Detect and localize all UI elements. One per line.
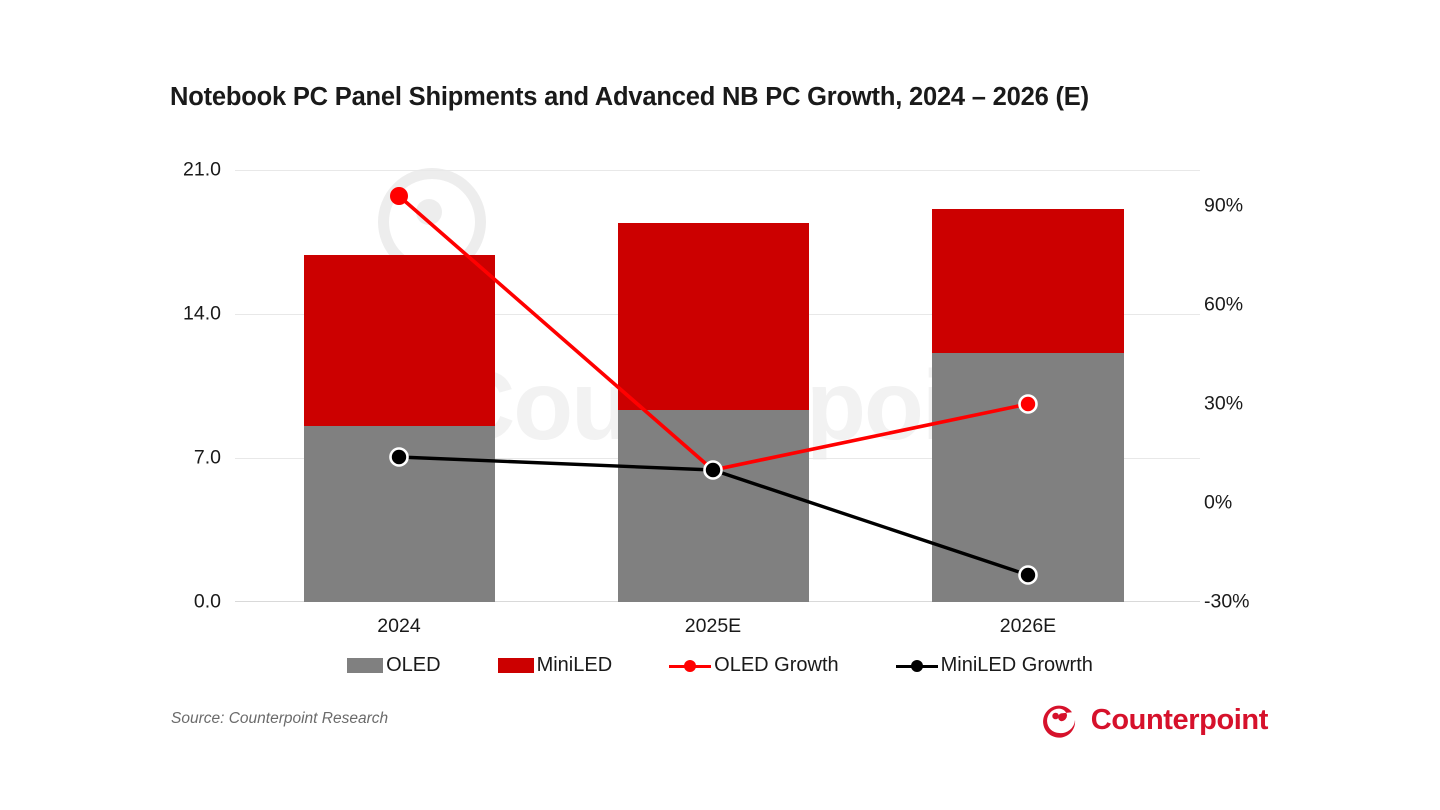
plot-area: [235, 170, 1200, 602]
chart-page: Notebook PC Panel Shipments and Advanced…: [0, 0, 1440, 810]
ytick-right-1: 60%: [1204, 294, 1243, 317]
legend-swatch-miniled-icon: [498, 658, 534, 673]
bar-miniled-2026e[interactable]: [932, 209, 1124, 353]
legend-swatch-oled-icon: [347, 658, 383, 673]
legend-item-miniled-growth[interactable]: MiniLED Growrth: [896, 654, 1093, 677]
bar-miniled-2024[interactable]: [304, 255, 495, 426]
legend-item-oled[interactable]: OLED: [347, 654, 440, 677]
gridline-21: [235, 170, 1200, 171]
legend-label-miniled: MiniLED: [537, 654, 613, 677]
brand-logo: Counterpoint: [1039, 700, 1268, 740]
ytick-right-2: 30%: [1204, 393, 1243, 416]
ytick-right-4: -30%: [1204, 591, 1250, 614]
bar-oled-2025e[interactable]: [618, 410, 809, 602]
legend-label-oled-growth: OLED Growth: [714, 654, 838, 677]
ytick-left-2: 7.0: [194, 447, 221, 470]
legend-line-oled-growth-icon: [669, 659, 711, 673]
counterpoint-logo-icon: [1039, 700, 1079, 740]
ytick-right-3: 0%: [1204, 492, 1232, 515]
legend: OLED MiniLED OLED Growth MiniLED Growrth: [0, 654, 1440, 677]
legend-label-miniled-growth: MiniLED Growrth: [941, 654, 1093, 677]
brand-name: Counterpoint: [1091, 704, 1268, 737]
bar-miniled-2025e[interactable]: [618, 223, 809, 410]
page-title: Notebook PC Panel Shipments and Advanced…: [170, 83, 1089, 112]
xtick-2026e: 2026E: [1000, 615, 1056, 638]
legend-line-miniled-growth-icon: [896, 659, 938, 673]
legend-label-oled: OLED: [386, 654, 440, 677]
xtick-2025e: 2025E: [685, 615, 741, 638]
legend-item-oled-growth[interactable]: OLED Growth: [669, 654, 838, 677]
ytick-left-0: 21.0: [183, 159, 221, 182]
ytick-right-0: 90%: [1204, 195, 1243, 218]
bar-oled-2026e[interactable]: [932, 353, 1124, 602]
xtick-2024: 2024: [377, 615, 420, 638]
ytick-left-1: 14.0: [183, 303, 221, 326]
legend-item-miniled[interactable]: MiniLED: [498, 654, 613, 677]
bar-oled-2024[interactable]: [304, 426, 495, 602]
source-note: Source: Counterpoint Research: [171, 710, 388, 728]
ytick-left-3: 0.0: [194, 591, 221, 614]
